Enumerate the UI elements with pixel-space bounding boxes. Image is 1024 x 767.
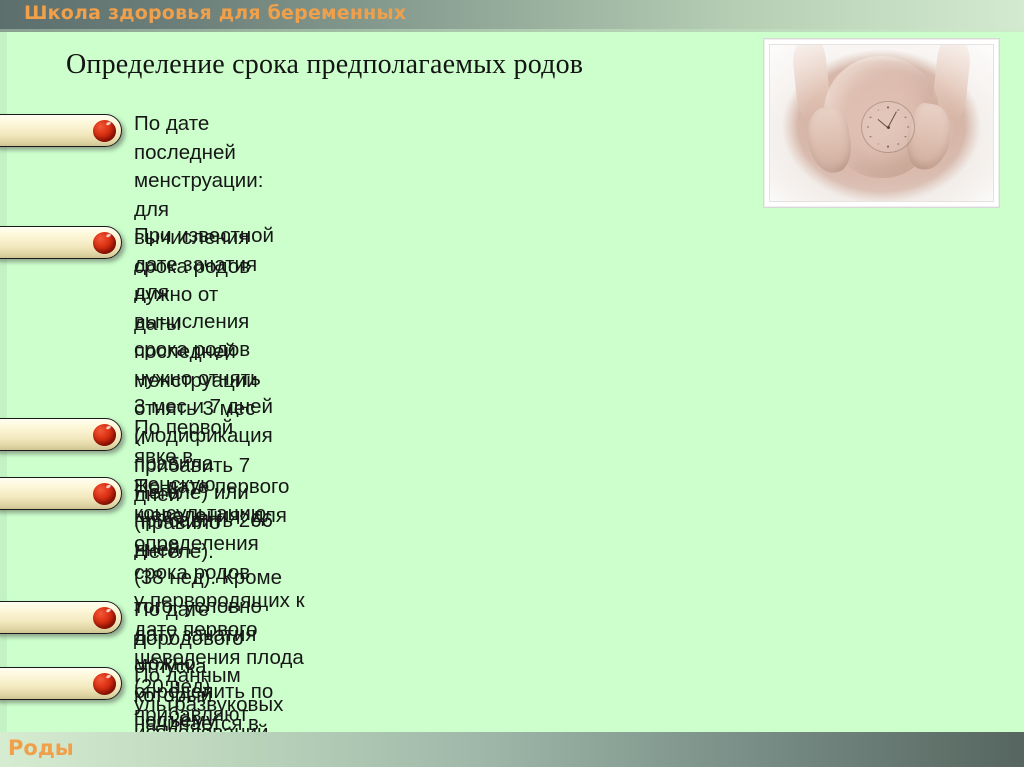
footer-title: Роды — [8, 736, 74, 760]
slide: Школа здоровья для беременных Определени… — [0, 0, 1024, 767]
bullet-marker-capsule — [0, 667, 122, 700]
footer-bar — [0, 732, 1024, 767]
red-sphere-icon — [93, 607, 116, 629]
bullet-marker-capsule — [0, 477, 122, 510]
red-sphere-icon — [93, 120, 116, 142]
bullet-marker-capsule — [0, 114, 122, 147]
bullet-marker-capsule — [0, 418, 122, 451]
red-sphere-icon — [93, 673, 116, 695]
page-title: Определение срока предполагаемых родов — [66, 49, 583, 81]
pregnancy-photo — [763, 38, 1000, 208]
photo-vignette — [770, 45, 993, 201]
photo-inner — [769, 44, 994, 202]
header-title: Школа здоровья для беременных — [24, 2, 406, 24]
red-sphere-icon — [93, 232, 116, 254]
red-sphere-icon — [93, 483, 116, 505]
red-sphere-icon — [93, 424, 116, 446]
bullet-marker-capsule — [0, 601, 122, 634]
bullet-marker-capsule — [0, 226, 122, 259]
